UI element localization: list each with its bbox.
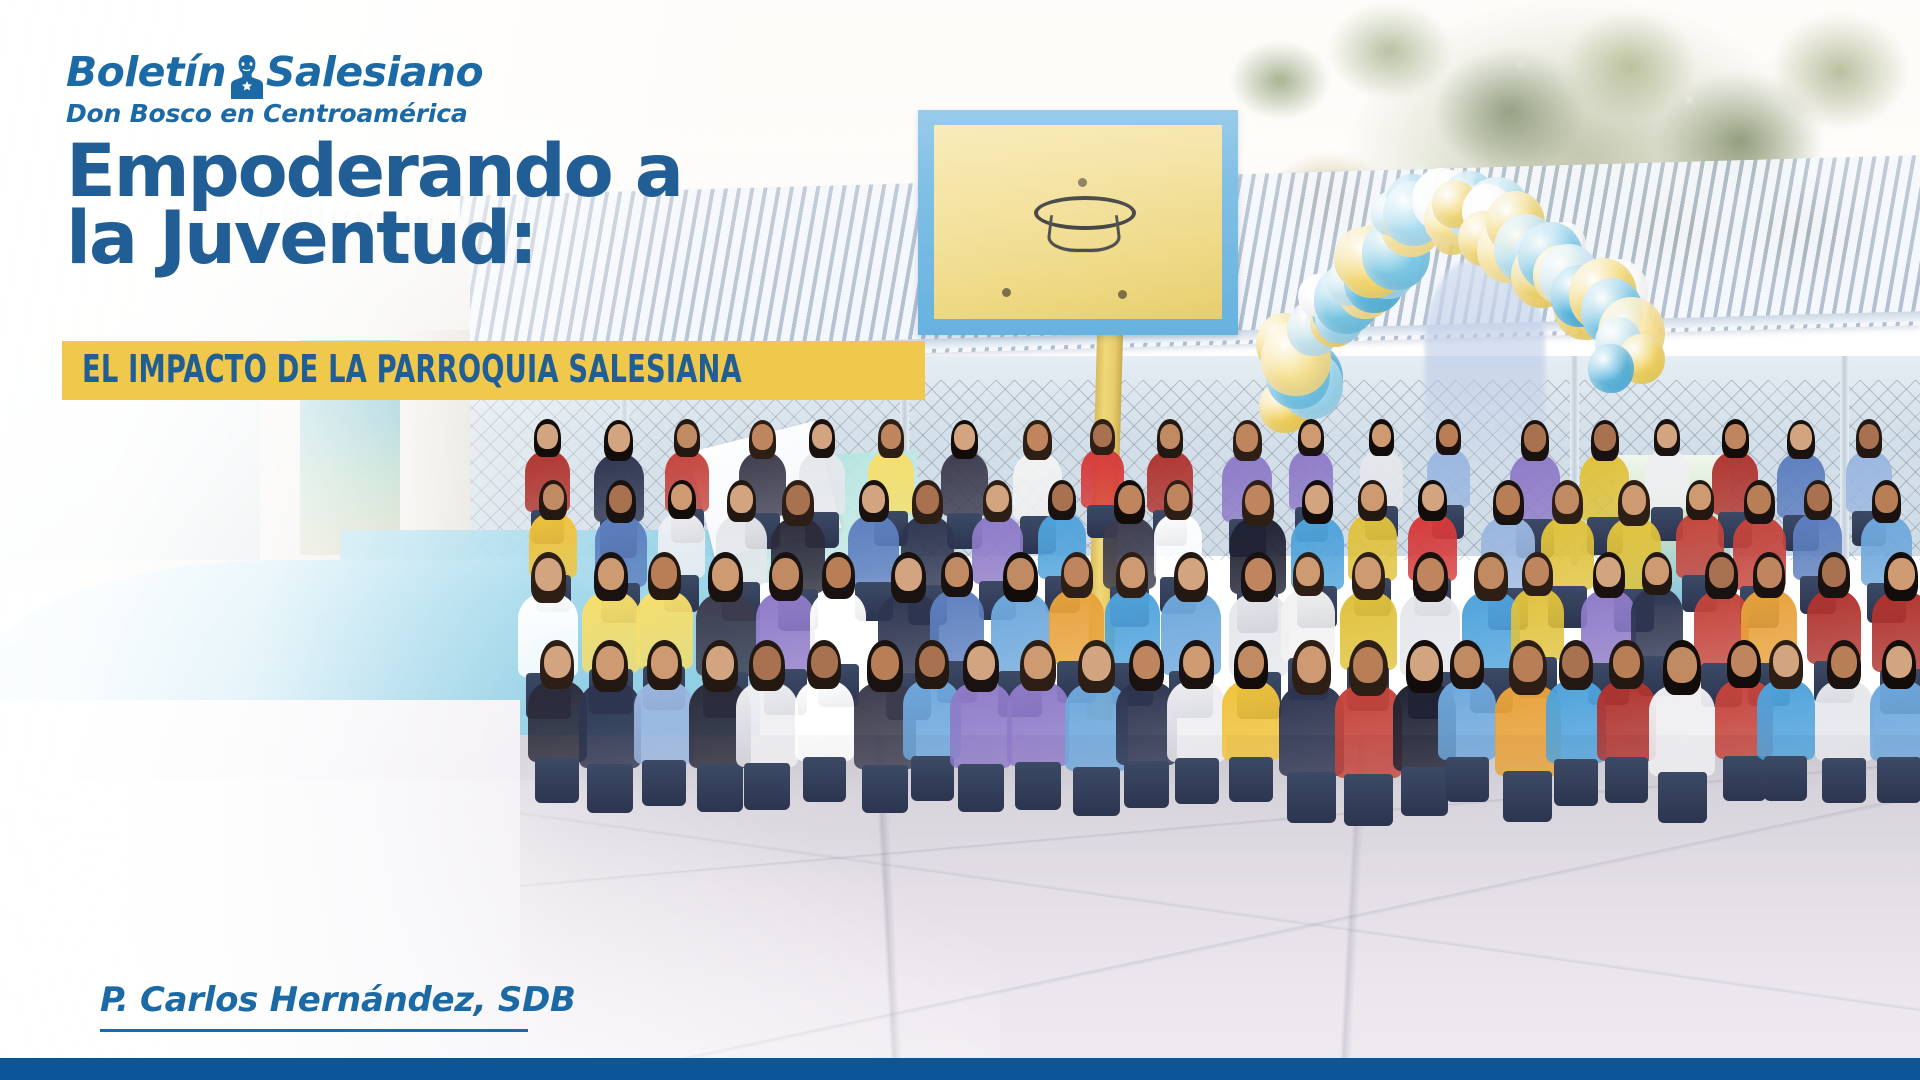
person-head [1888, 558, 1914, 590]
person [791, 638, 857, 798]
person-head [671, 484, 693, 510]
subtitle-banner: EL IMPACTO DE LA PARROQUIA SALESIANA [62, 341, 925, 400]
person-head [871, 646, 899, 680]
person-torso [1815, 680, 1874, 762]
person-head [706, 646, 734, 680]
person-head [1645, 557, 1669, 586]
person-head [786, 485, 811, 515]
person-head [1596, 557, 1621, 587]
person-legs [1877, 757, 1920, 803]
person-head [598, 558, 624, 590]
person-head [1118, 485, 1142, 514]
person-head [811, 646, 837, 678]
person-legs [642, 760, 686, 806]
person-head [535, 558, 562, 591]
masthead-title-boletin: Boletín [66, 52, 226, 93]
page-title-line2: la Juventud: [66, 205, 682, 272]
person-head [1757, 557, 1782, 587]
person-head [677, 424, 697, 449]
basketball-net [1046, 215, 1123, 252]
person-head [609, 485, 632, 513]
person-head [608, 424, 630, 451]
person-legs [1446, 757, 1489, 802]
person-head [772, 558, 799, 590]
group-of-people [520, 400, 1920, 820]
person-head [1496, 485, 1520, 515]
person-head [1709, 557, 1734, 588]
author-credit: P. Carlos Hernández, SDB [100, 980, 576, 1032]
person-head [945, 557, 970, 587]
person-legs [1015, 762, 1060, 809]
person-head [1167, 484, 1189, 511]
person-head [1886, 646, 1913, 678]
page-title: Empoderando a la Juventud: [66, 138, 682, 272]
person [1866, 638, 1920, 799]
person-head [1875, 485, 1898, 513]
person-head [1236, 424, 1258, 451]
person-legs [1658, 772, 1707, 823]
person-torso [1007, 681, 1068, 766]
person-head [1622, 485, 1647, 515]
person-torso [1438, 679, 1496, 760]
person-head [1353, 647, 1383, 684]
person-head [1245, 558, 1272, 591]
masthead-title-row: Boletín Salesiano [66, 48, 483, 96]
person-head [1027, 424, 1049, 451]
person-torso [795, 680, 854, 761]
person-head [1245, 485, 1270, 515]
person-legs [1175, 758, 1219, 804]
person-head [1007, 558, 1034, 591]
masthead-subtitle: Don Bosco en Centroamérica [66, 99, 483, 128]
backboard-bolt [1118, 290, 1127, 299]
person-head [1524, 424, 1547, 451]
person-head [919, 646, 945, 678]
author-underline [100, 1029, 528, 1032]
poster-canvas: [] Boletín Salesiano Don B [0, 0, 1920, 1080]
person-head [712, 558, 739, 591]
person-head [651, 557, 677, 588]
person-head [1657, 424, 1677, 448]
balloon [1588, 344, 1634, 393]
person-head [1422, 484, 1444, 511]
person-legs [1344, 774, 1394, 826]
person-head [753, 646, 781, 680]
person-head [1773, 645, 1799, 677]
person-torso [1757, 679, 1815, 760]
masthead-logo: Boletín Salesiano Don Bosco en Centroamé… [66, 48, 483, 128]
person-head [1439, 424, 1458, 448]
person-head [1355, 557, 1381, 588]
person-torso [1222, 680, 1280, 761]
person-torso [736, 682, 797, 767]
person-head [1183, 646, 1210, 678]
subtitle-banner-text: EL IMPACTO DE LA PARROQUIA SALESIANA [82, 350, 742, 388]
person-head [1361, 484, 1383, 511]
person [1645, 638, 1720, 819]
person-head [1454, 646, 1480, 678]
person-head [1052, 484, 1074, 510]
person-head [537, 424, 557, 449]
person-head [730, 485, 753, 513]
person-head [1689, 484, 1711, 510]
person-head [1238, 646, 1264, 678]
don-bosco-portrait-icon [230, 51, 264, 99]
person-head [1790, 424, 1811, 450]
person-legs [744, 763, 790, 810]
person-head [651, 646, 678, 679]
footer-bar [0, 1058, 1920, 1080]
person-head [1093, 424, 1112, 447]
person-legs [1229, 757, 1272, 802]
person-head [1525, 557, 1549, 586]
person-legs [958, 764, 1004, 812]
person-legs [587, 764, 633, 812]
person-head [1133, 646, 1160, 679]
person-head [1296, 557, 1320, 586]
backboard-bolt [1002, 288, 1011, 297]
person-head [543, 484, 565, 510]
person-legs [1554, 759, 1598, 805]
person-legs [1124, 761, 1169, 808]
masthead-title-salesiano: Salesiano [266, 52, 483, 93]
person-head [895, 558, 922, 591]
person-head [881, 424, 902, 449]
person [1753, 638, 1819, 797]
person-head [1178, 558, 1205, 591]
person-head [596, 646, 624, 680]
person-head [1562, 646, 1589, 679]
person-head [1297, 646, 1327, 682]
person-head [826, 557, 851, 588]
person-head [1613, 646, 1640, 678]
person-legs [1287, 772, 1336, 823]
person-head [1667, 647, 1697, 683]
person-head [862, 485, 885, 513]
person-head [1859, 424, 1880, 449]
person-head [916, 485, 940, 514]
person-torso [1870, 680, 1920, 762]
person-head [986, 485, 1009, 513]
person-head [954, 424, 975, 450]
backboard-bolt [1078, 178, 1087, 187]
person-head [1301, 424, 1321, 448]
person-legs [1822, 758, 1866, 804]
person-head [1831, 646, 1858, 678]
person-head [967, 646, 995, 680]
person-torso [1649, 685, 1715, 777]
person-head [1747, 485, 1771, 514]
person-head [1478, 557, 1504, 589]
person-head [1064, 557, 1089, 587]
person-legs [803, 757, 846, 802]
person-head [812, 424, 833, 449]
person-head [1082, 646, 1111, 681]
person-head [1594, 424, 1616, 451]
person-legs [1764, 756, 1807, 801]
author-name: P. Carlos Hernández, SDB [100, 980, 576, 1020]
person-head [1513, 646, 1543, 682]
person-head [1822, 557, 1847, 587]
person-head [1417, 558, 1444, 591]
person-head [544, 646, 571, 678]
person-head [1305, 485, 1329, 514]
person-head [1725, 424, 1746, 449]
person-head [1372, 424, 1392, 448]
person-head [1807, 484, 1829, 511]
person-head [1024, 646, 1052, 680]
person-legs [1605, 757, 1649, 803]
person-head [752, 424, 773, 450]
person-head [1555, 485, 1579, 514]
person-legs [535, 758, 579, 804]
person-head [1160, 424, 1181, 449]
person-head [1120, 557, 1145, 587]
